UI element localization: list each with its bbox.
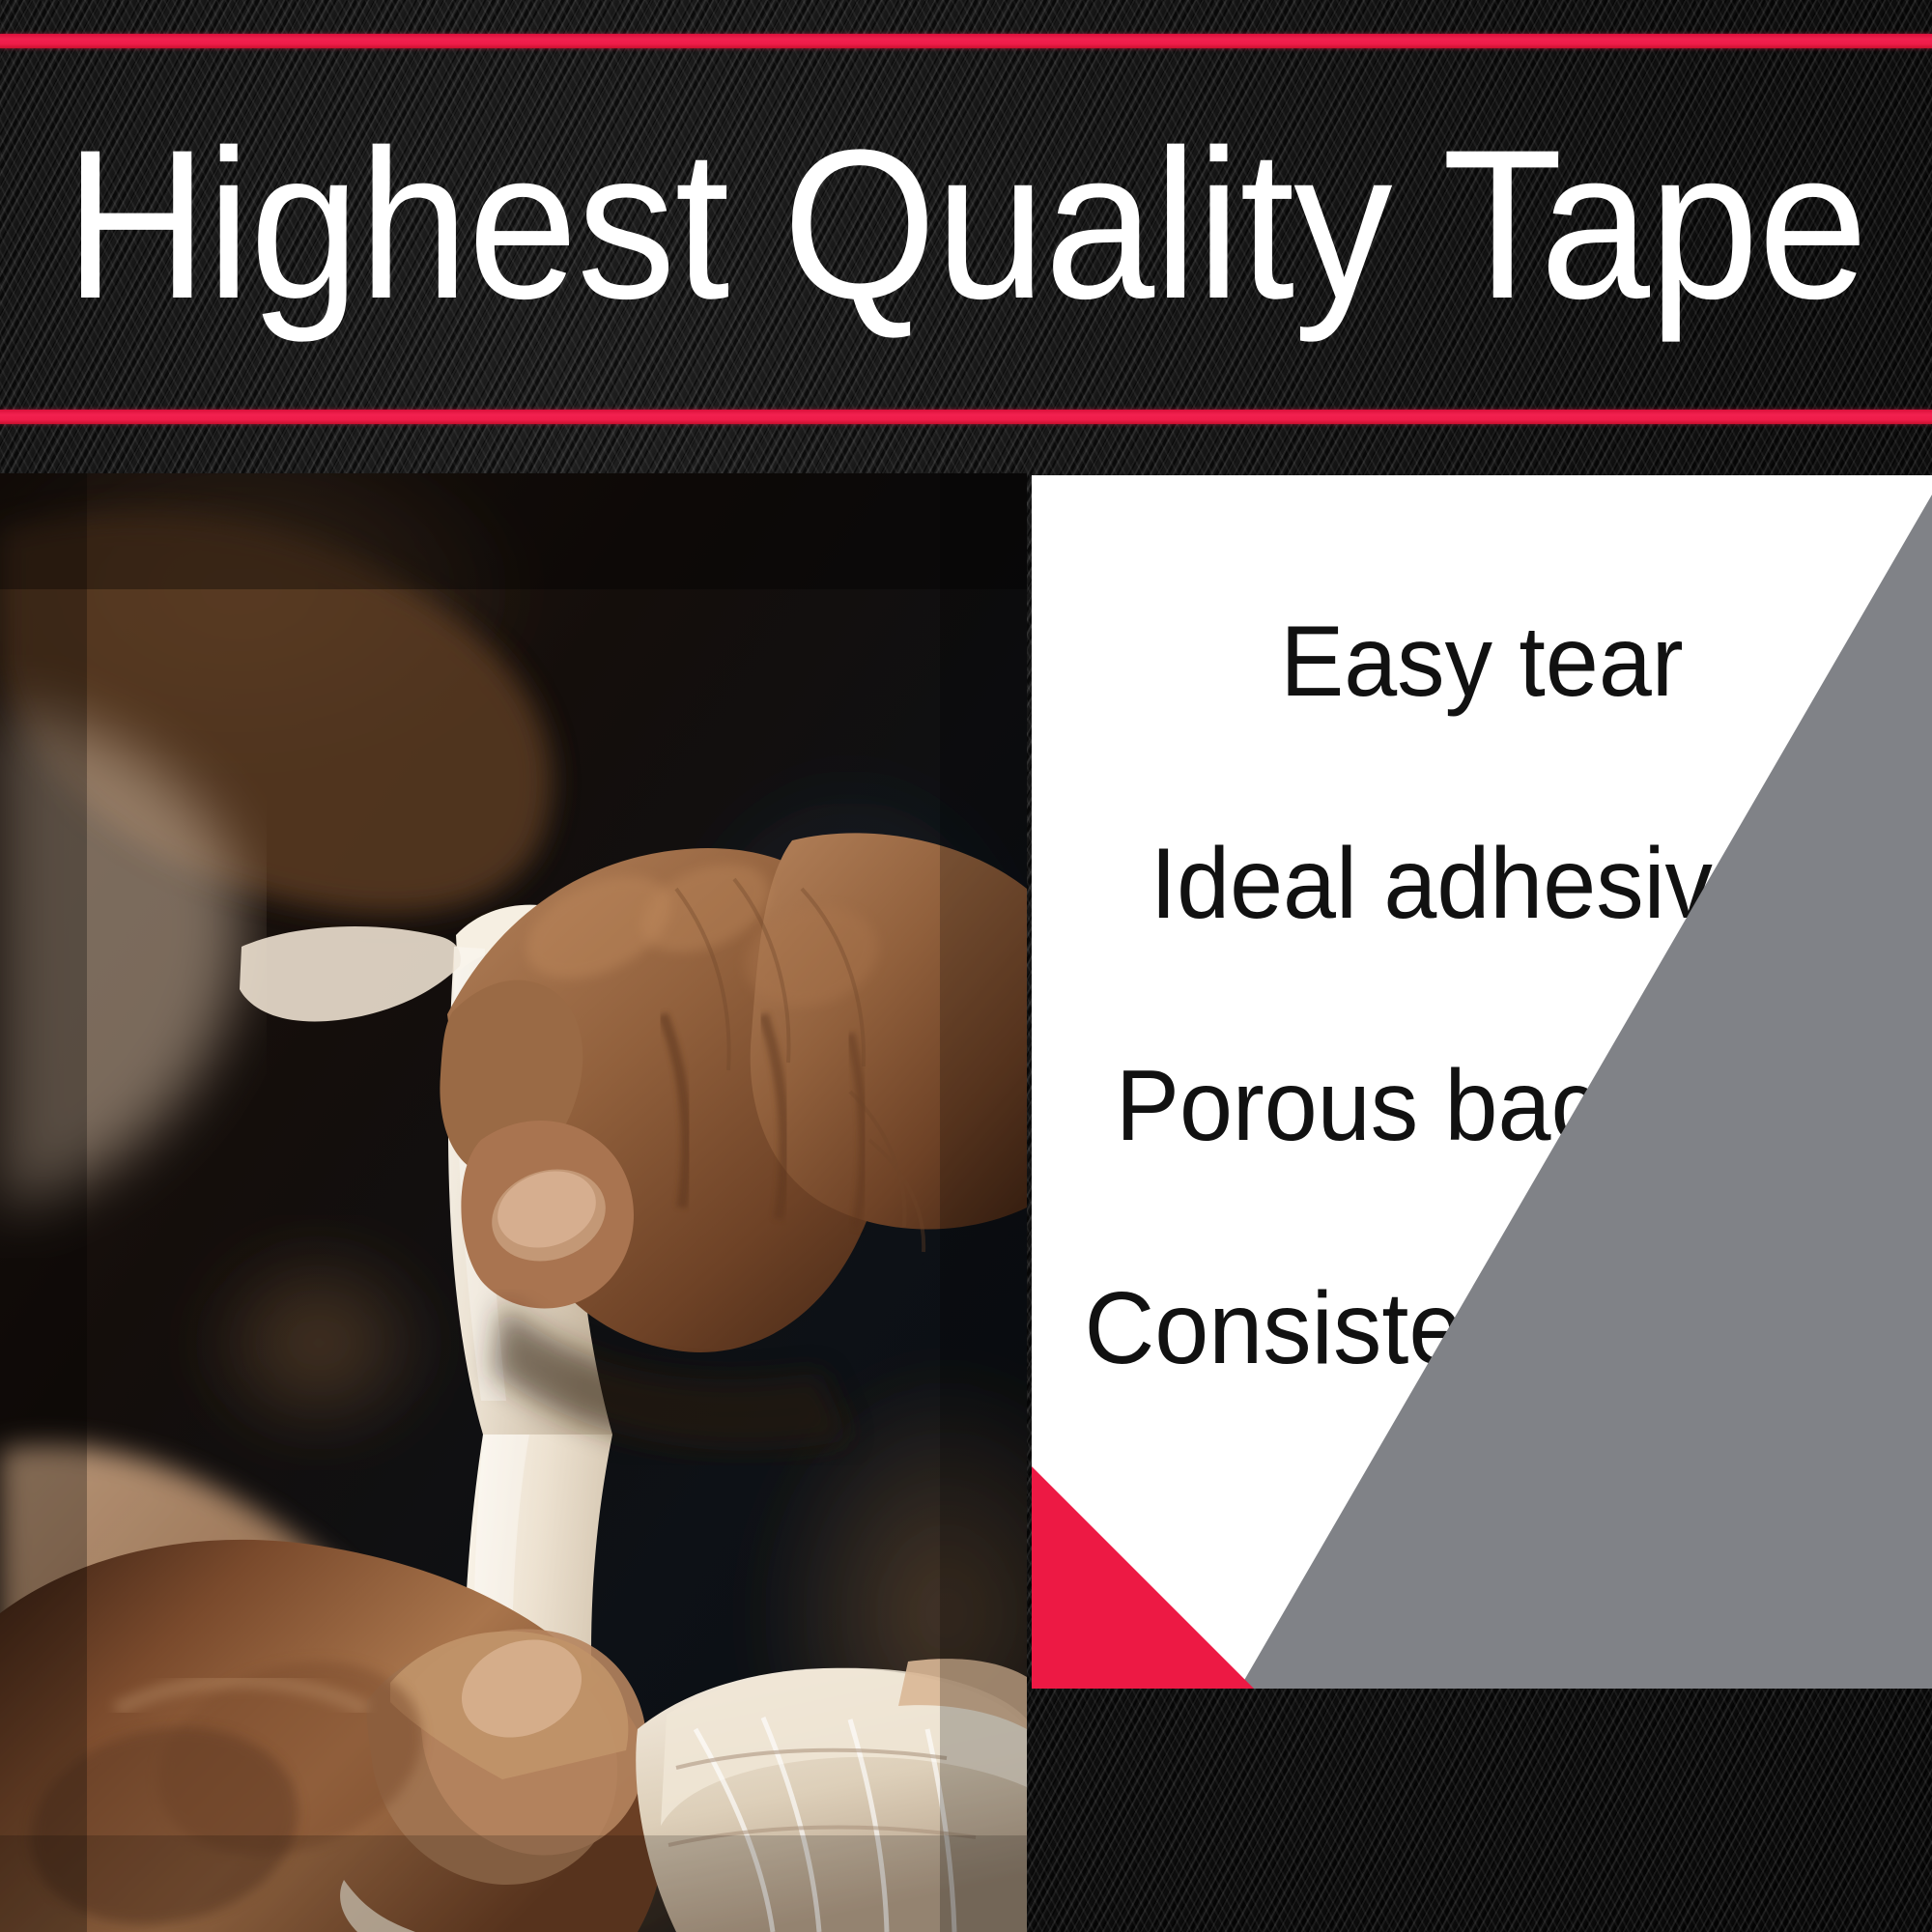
product-photo bbox=[0, 473, 1027, 1932]
header-rule-bottom bbox=[0, 410, 1932, 424]
features-panel: Easy tear Ideal adhesives Porous backclo… bbox=[1032, 475, 1932, 1689]
product-poster: Highest Quality Tape bbox=[0, 0, 1932, 1932]
header-rule-top bbox=[0, 34, 1932, 48]
features-list: Easy tear Ideal adhesives Porous backclo… bbox=[1032, 475, 1932, 1689]
page-title: Highest Quality Tape bbox=[68, 79, 1864, 369]
header-rule-bottom-fill bbox=[0, 410, 1932, 424]
photo-illustration bbox=[0, 473, 1027, 1932]
header-rule-top-fill bbox=[0, 34, 1932, 48]
feature-item-porous-backcloth: Porous backcloth bbox=[1054, 995, 1909, 1217]
feature-item-easy-tear: Easy tear bbox=[1054, 551, 1909, 773]
feature-item-ideal-adhesives: Ideal adhesives bbox=[1054, 773, 1909, 995]
feature-item-consistent-unwind: Consistent unwind bbox=[1054, 1217, 1909, 1439]
